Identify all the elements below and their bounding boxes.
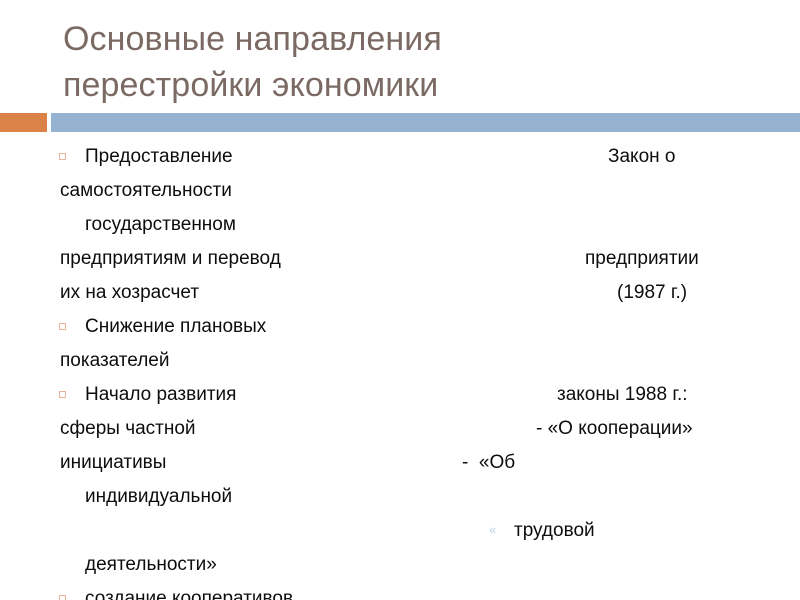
body-line: предприятиям и переводпредприятии bbox=[0, 242, 800, 276]
body-line: индивидуальной bbox=[0, 480, 800, 514]
slide-canvas: Основные направления перестройки экономи… bbox=[0, 0, 800, 600]
body-text-left: Снижение плановых bbox=[85, 310, 266, 344]
body-text-left: самостоятельности bbox=[60, 174, 232, 208]
body-text-left: показателей bbox=[60, 344, 170, 378]
body-line: Начало развитиязаконы 1988 г.: bbox=[0, 378, 800, 412]
body-text-left: Предоставление bbox=[85, 140, 233, 174]
body-text-left: предприятиям и перевод bbox=[60, 242, 281, 276]
slide-title-line-1: Основные направления bbox=[63, 16, 763, 62]
body-line: государственном bbox=[0, 208, 800, 242]
body-text-right: (1987 г.) bbox=[617, 276, 687, 310]
body-line: ПредоставлениеЗакон о bbox=[0, 140, 800, 174]
body-text-right: законы 1988 г.: bbox=[557, 378, 688, 412]
bullet-square-icon bbox=[59, 323, 66, 330]
body-text-left: сферы частной bbox=[60, 412, 196, 446]
body-text-left: их на хозрасчет bbox=[60, 276, 199, 310]
body-line: создание кооперативов bbox=[0, 582, 800, 600]
body-line: сферы частной- «О кооперации» bbox=[0, 412, 800, 446]
bullet-square-icon bbox=[59, 595, 66, 600]
body-line: их на хозрасчет(1987 г.) bbox=[0, 276, 800, 310]
body-text-right: - «Об bbox=[462, 446, 515, 480]
slide-body: ПредоставлениеЗакон осамостоятельностиго… bbox=[0, 140, 800, 600]
body-text-right: - «О кооперации» bbox=[536, 412, 693, 446]
body-text-left: создание кооперативов bbox=[85, 582, 293, 600]
slide-title: Основные направления перестройки экономи… bbox=[63, 16, 763, 108]
stray-quote-artifact-icon: « bbox=[489, 523, 496, 536]
body-text-right: Закон о bbox=[608, 140, 675, 174]
body-text-left: Начало развития bbox=[85, 378, 236, 412]
body-line: инициативы- «Об bbox=[0, 446, 800, 480]
title-divider bbox=[0, 113, 800, 132]
body-line: деятельности» bbox=[0, 548, 800, 582]
body-text-left: индивидуальной bbox=[85, 480, 232, 514]
body-line: самостоятельности bbox=[0, 174, 800, 208]
body-line: трудовой bbox=[0, 514, 800, 548]
body-text-left: государственном bbox=[85, 208, 236, 242]
divider-accent-block bbox=[0, 113, 47, 132]
body-line: Снижение плановых bbox=[0, 310, 800, 344]
divider-bar bbox=[51, 113, 800, 132]
body-line: показателей bbox=[0, 344, 800, 378]
slide-title-line-2: перестройки экономики bbox=[63, 62, 763, 108]
body-text-left: инициативы bbox=[60, 446, 166, 480]
body-text-right: предприятии bbox=[585, 242, 699, 276]
body-text-left: деятельности» bbox=[85, 548, 217, 582]
bullet-square-icon bbox=[59, 391, 66, 398]
bullet-square-icon bbox=[59, 153, 66, 160]
body-text-right: трудовой bbox=[514, 514, 595, 548]
